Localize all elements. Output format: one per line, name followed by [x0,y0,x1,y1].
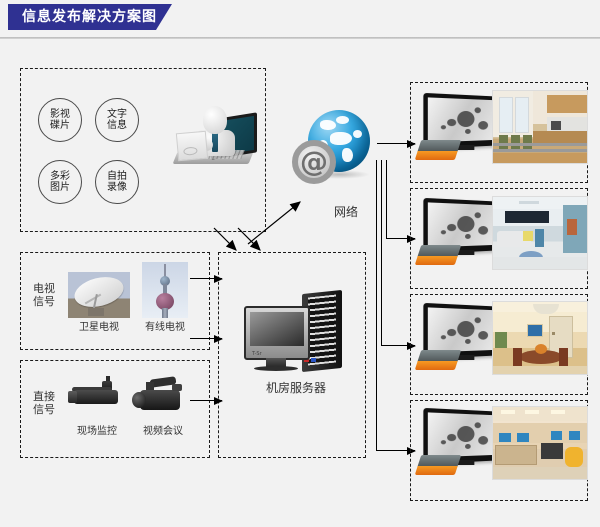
endpoint-2-media-player-box-icon [415,245,461,265]
tv-tower-icon [142,262,188,318]
endpoint-1-scene-photo [492,90,588,164]
video-conference-caption: 视频会议 [132,426,194,438]
source-circle-selfie-video-line1: 自拍 [107,171,127,182]
tv-signal-label: 电视 信号 [24,282,64,308]
title-tab-slant [156,4,172,30]
source-circle-selfie-video[interactable]: 自拍 录像 [95,160,139,204]
bus-line-3 [381,160,382,345]
diagram-canvas: 信息发布解决方案图 影视 碟片 文字 信息 多彩 图片 自拍 录像 [0,0,600,527]
bus-line-4 [376,160,377,450]
source-circle-color-photo-line2: 图片 [50,182,70,193]
source-circle-text-info[interactable]: 文字 信息 [95,98,139,142]
endpoint-3-media-player-box-icon [415,350,461,370]
desktop-server-icon: T-Sr [244,292,348,374]
satellite-tv-caption: 卫星电视 [68,322,130,334]
cable-tv-caption: 有线电视 [134,322,196,334]
endpoint-4-scene-photo [492,406,588,480]
endpoint-2-scene-photo [492,196,588,270]
camcorder-icon [132,374,190,420]
bus-line-2 [386,160,387,238]
direct-signal-label: 直接 信号 [24,390,64,416]
satellite-dish-icon [68,272,130,318]
network-label: 网络 [316,206,376,219]
title-bar: 信息发布解决方案图 [0,0,600,40]
source-circle-video-disc-line2: 碟片 [50,120,70,131]
arrow-direct-signal-to-server [190,400,222,401]
endpoint-3-scene-photo [492,301,588,375]
source-circle-color-photo-line1: 多彩 [50,171,70,182]
source-circle-color-photo[interactable]: 多彩 图片 [38,160,82,204]
person-at-laptop-icon [175,108,267,184]
page-title: 信息发布解决方案图 [22,8,157,26]
at-symbol-icon: @ [292,140,336,184]
source-circle-video-disc-line1: 影视 [50,109,70,120]
source-circle-video-disc[interactable]: 影视 碟片 [38,98,82,142]
source-circle-selfie-video-line2: 录像 [107,182,127,193]
source-circle-text-info-line1: 文字 [107,109,127,120]
arrow-tv-signal-to-server-2 [190,338,222,339]
arrow-tv-signal-to-server-1 [190,278,222,279]
endpoint-1-media-player-box-icon [415,140,461,160]
site-monitoring-caption: 现场监控 [66,426,128,438]
arrow-server-to-network [244,196,314,248]
security-camera-icon [68,376,126,420]
title-divider [0,37,600,39]
endpoint-4-media-player-box-icon [415,455,461,475]
source-circle-text-info-line2: 信息 [107,120,127,131]
server-label: 机房服务器 [244,382,348,395]
